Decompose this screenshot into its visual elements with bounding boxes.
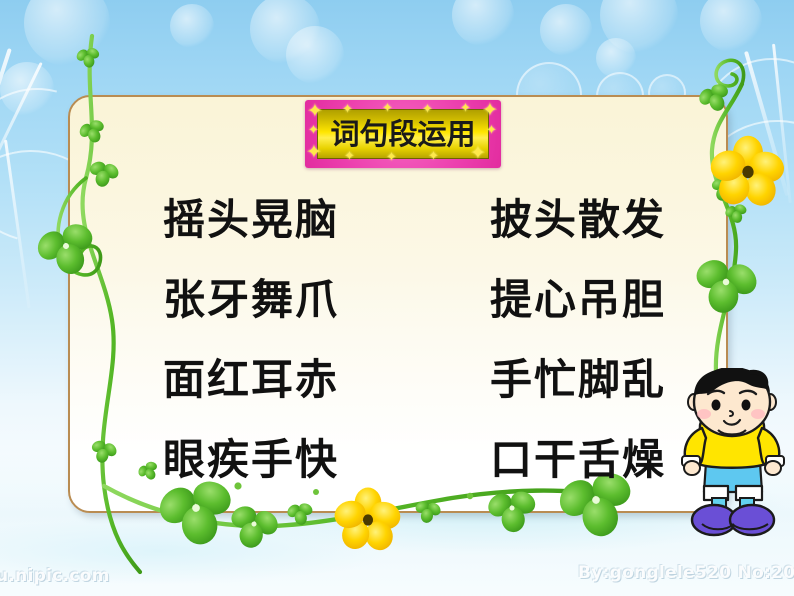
idiom-item: 张牙舞爪 bbox=[68, 279, 398, 321]
title-banner: 词句段运用 bbox=[305, 100, 501, 168]
idiom-item: 眼疾手快 bbox=[68, 439, 398, 481]
title-text: 词句段运用 bbox=[330, 120, 475, 149]
idiom-item: 面红耳赤 bbox=[68, 359, 398, 401]
slide-canvas: 词句段运用 ✦ ✦ ✦ ✦ ✦ ✦ ✦ ✦ ✦ ✦ ✦ ✦ ✦ 摇头晃脑 披头散… bbox=[0, 0, 794, 596]
title-banner-panel: 词句段运用 bbox=[317, 109, 489, 159]
idiom-item: 提心吊胆 bbox=[398, 279, 728, 321]
idiom-item: 摇头晃脑 bbox=[68, 199, 398, 241]
idiom-item: 披头散发 bbox=[398, 199, 728, 241]
idiom-grid: 摇头晃脑 披头散发 张牙舞爪 提心吊胆 面红耳赤 手忙脚乱 眼疾手快 口干舌燥 bbox=[68, 180, 728, 500]
cartoon-boy-illustration bbox=[672, 368, 794, 540]
